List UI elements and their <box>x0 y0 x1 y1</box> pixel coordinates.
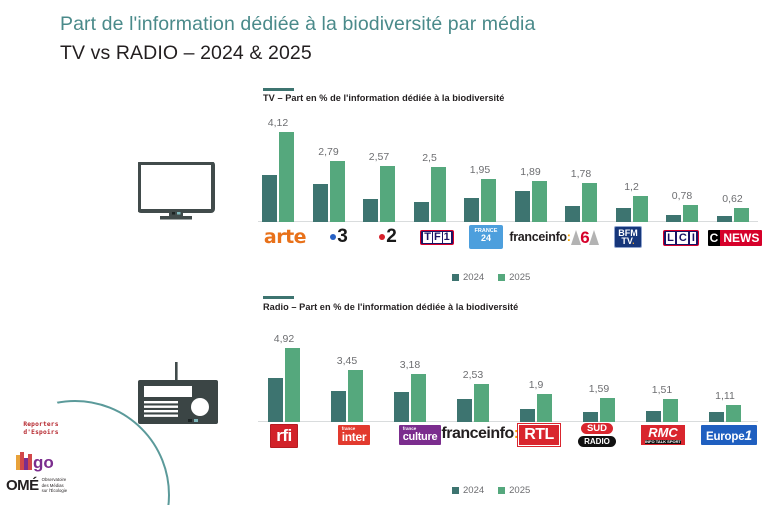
bar-group: 0,62 <box>717 121 749 222</box>
bar-value-label: 0,62 <box>703 193 763 205</box>
bar-2025 <box>285 348 300 422</box>
bar-group: 2,57 <box>363 121 395 222</box>
bar-2025 <box>380 166 395 222</box>
ome-wordmark: OMÉ <box>6 477 39 494</box>
bar-group: 1,59 <box>583 341 615 422</box>
bar-2025 <box>348 370 363 422</box>
radio-chart-legend: 2024 2025 <box>452 485 530 496</box>
ome-sub-line3: sur l'Écologie <box>42 488 67 493</box>
radio-logo-rtl: RTL <box>516 423 562 447</box>
bar-group: 2,53 <box>457 341 489 422</box>
ome-sub-line1: Observatoire <box>42 477 67 482</box>
bar-group: 1,9 <box>520 341 552 422</box>
bar-2024 <box>666 215 681 222</box>
radio-logo-sud-radio: SUDRADIO <box>573 419 621 449</box>
television-icon <box>138 162 222 225</box>
legend-swatch-2024 <box>452 487 459 494</box>
bar-2024 <box>313 184 328 222</box>
bar-2024 <box>464 198 479 222</box>
radio-logo-rfi: rfi <box>264 423 304 449</box>
logo-ome: OMÉ Observatoire des Médias sur l'Écolog… <box>6 477 67 494</box>
bar-2025 <box>633 196 648 222</box>
bar-group: 3,45 <box>331 341 363 422</box>
radio-logo-france-inter: franceinter <box>327 421 381 449</box>
tv-logo-france24: FRANCE24 <box>464 225 508 249</box>
tv-logo-lci: LCI <box>657 228 705 247</box>
bar-2025 <box>726 405 741 422</box>
bar-2025 <box>582 183 597 222</box>
slide-canvas: Part de l'information dédiée à la biodiv… <box>0 0 768 505</box>
legend-swatch-2024 <box>452 274 459 281</box>
radio-section-rule <box>263 296 294 299</box>
tv-section-title: TV – Part en % de l'information dédiée à… <box>263 93 504 103</box>
legend-item-2025: 2025 <box>498 272 530 283</box>
bar-group: 1,2 <box>616 121 648 222</box>
tv-logo-m6: 6 <box>568 226 602 248</box>
bar-2025 <box>474 384 489 422</box>
bar-value-label: 1,9 <box>506 379 566 391</box>
tv-section-rule <box>263 88 294 91</box>
bar-2024 <box>616 208 631 222</box>
bar-2024 <box>268 378 283 422</box>
bar-2024 <box>565 206 580 222</box>
bar-2025 <box>734 208 749 222</box>
tv-logo-arte: arte <box>259 226 311 248</box>
bar-2025 <box>532 181 547 222</box>
bar-group: 4,92 <box>268 341 300 422</box>
bar-group: 0,78 <box>666 121 698 222</box>
bar-2024 <box>363 199 378 222</box>
bar-2025 <box>683 205 698 222</box>
bar-value-label: 3,18 <box>380 359 440 371</box>
bar-value-label: 4,12 <box>248 117 308 129</box>
reporters-line1: Reporters <box>10 421 72 429</box>
bar-value-label: 2,53 <box>443 369 503 381</box>
bar-2025 <box>411 374 426 422</box>
tv-logo-france2: 2 <box>366 226 410 248</box>
bar-2024 <box>394 392 409 422</box>
bar-value-label: 2,5 <box>400 152 460 164</box>
bar-2024 <box>717 216 732 222</box>
bar-2025 <box>279 132 294 222</box>
bar-group: 3,18 <box>394 341 426 422</box>
legend-item-2024: 2024 <box>452 272 484 283</box>
bar-2025 <box>481 179 496 222</box>
tv-logo-cnews: CNEWS <box>707 228 763 247</box>
bar-2024 <box>646 411 661 422</box>
legend-item-2025: 2025 <box>498 485 530 496</box>
legend-swatch-2025 <box>498 487 505 494</box>
bar-value-label: 3,45 <box>317 355 377 367</box>
bar-2024 <box>414 202 429 222</box>
bar-group: 1,51 <box>646 341 678 422</box>
radio-logo-europe1: Europe1 <box>700 424 758 446</box>
radio-logo-rmc: RMCINFO TALK SPORT <box>634 423 692 447</box>
bar-2024 <box>262 175 277 222</box>
bar-2024 <box>331 391 346 422</box>
radio-section-title: Radio – Part en % de l'information dédié… <box>263 302 518 312</box>
tv-logo-tf1: TF1 <box>411 228 463 247</box>
bar-2025 <box>431 167 446 222</box>
legend-label-2024: 2024 <box>463 272 484 283</box>
bar-group: 1,11 <box>709 341 741 422</box>
bar-value-label: 4,92 <box>254 333 314 345</box>
tv-bar-chart: 4,122,792,572,51,951,891,781,20,780,62 <box>258 120 758 222</box>
bar-group: 2,5 <box>414 121 446 222</box>
bar-2024 <box>709 412 724 423</box>
legend-label-2025: 2025 <box>509 485 530 496</box>
page-title-primary: Part de l'information dédiée à la biodiv… <box>60 13 535 36</box>
radio-bar-chart: 4,923,453,182,531,91,591,511,11 <box>258 340 758 422</box>
ome-sub-line2: des Médias <box>42 483 64 488</box>
tv-logo-bfmtv: BFMTV. <box>609 224 647 250</box>
bar-group: 1,95 <box>464 121 496 222</box>
bar-group: 1,78 <box>565 121 597 222</box>
ome-subtitle: Observatoire des Médias sur l'Écologie <box>42 477 67 493</box>
illgo-bar-4 <box>28 454 32 470</box>
legend-item-2024: 2024 <box>452 485 484 496</box>
page-title-secondary: TV vs RADIO – 2024 & 2025 <box>60 42 312 65</box>
bar-value-label: 1,78 <box>551 168 611 180</box>
illgo-wordmark: go <box>33 455 54 470</box>
radio-logo-franceinfo: franceinfo: <box>435 424 525 444</box>
bar-2025 <box>537 394 552 423</box>
reporters-line2: d'Espoirs <box>10 429 72 437</box>
logo-illgo: go <box>16 452 54 470</box>
legend-swatch-2025 <box>498 274 505 281</box>
tv-logo-franceinfo: franceinfo: <box>509 228 571 246</box>
legend-label-2025: 2025 <box>509 272 530 283</box>
legend-label-2024: 2024 <box>463 485 484 496</box>
bar-value-label: 1,51 <box>632 384 692 396</box>
bar-value-label: 1,59 <box>569 383 629 395</box>
logo-reporters-despoirs: Reporters d'Espoirs <box>10 421 72 436</box>
bar-2025 <box>330 161 345 222</box>
bar-2024 <box>457 399 472 422</box>
bar-group: 1,89 <box>515 121 547 222</box>
bar-group: 4,12 <box>262 121 294 222</box>
bar-group: 2,79 <box>313 121 345 222</box>
radio-icon <box>130 362 226 433</box>
bar-2024 <box>520 409 535 422</box>
bar-2024 <box>515 191 530 222</box>
tv-logo-france3: 3 <box>317 226 361 248</box>
bar-2025 <box>663 399 678 422</box>
tv-chart-legend: 2024 2025 <box>452 272 530 283</box>
bar-value-label: 1,11 <box>695 390 755 402</box>
